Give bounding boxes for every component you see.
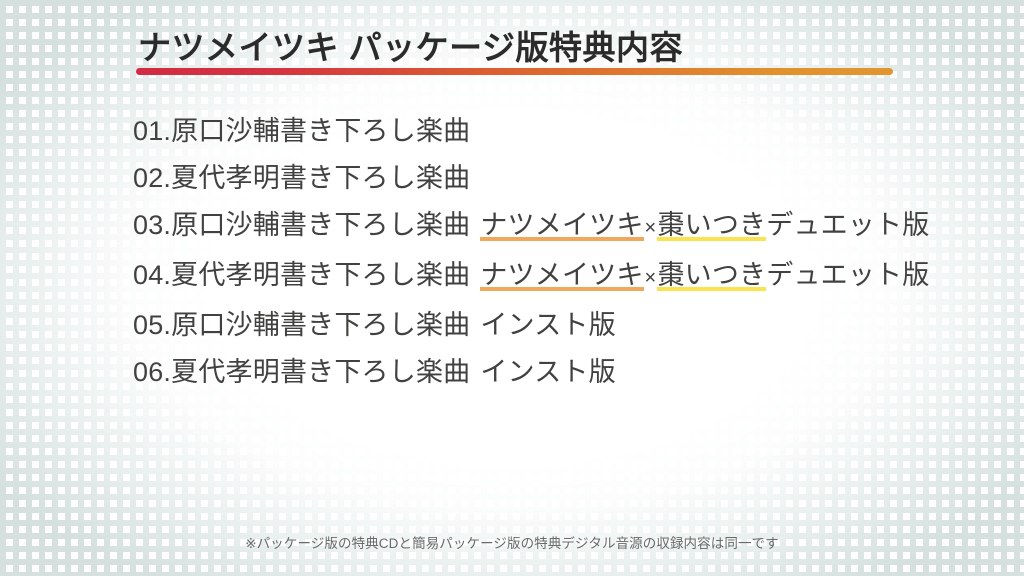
- page-title: ナツメイツキ パッケージ版特典内容: [138, 21, 683, 69]
- variant-text: インスト版: [480, 357, 615, 387]
- track-variant: インスト版: [480, 310, 615, 340]
- track-title: 夏代孝明書き下ろし楽曲: [171, 163, 470, 193]
- track-item: 01.原口沙輔書き下ろし楽曲: [133, 108, 933, 155]
- variant-text: デュエット版: [766, 210, 929, 240]
- track-item: 06.夏代孝明書き下ろし楽曲インスト版: [133, 349, 933, 396]
- track-title: 夏代孝明書き下ろし楽曲: [171, 357, 470, 387]
- track-title: 原口沙輔書き下ろし楽曲: [171, 310, 470, 340]
- track-item: 05.原口沙輔書き下ろし楽曲インスト版: [133, 302, 933, 349]
- footnote-text: ※パッケージ版の特典CDと簡易パッケージ版の特典デジタル音源の収録内容は同一です: [0, 532, 1024, 552]
- highlight-orange: ナツメイツキ: [480, 210, 643, 241]
- variant-text: インスト版: [480, 310, 615, 340]
- variant-text: デュエット版: [766, 260, 929, 290]
- track-item: 02.夏代孝明書き下ろし楽曲: [133, 155, 933, 202]
- track-number: 04.: [133, 260, 171, 290]
- track-number: 02.: [133, 163, 171, 193]
- track-title: 夏代孝明書き下ろし楽曲: [171, 260, 470, 290]
- track-number: 05.: [133, 310, 171, 340]
- slide-canvas: ナツメイツキ パッケージ版特典内容 01.原口沙輔書き下ろし楽曲02.夏代孝明書…: [0, 0, 1024, 576]
- track-list: 01.原口沙輔書き下ろし楽曲02.夏代孝明書き下ろし楽曲03.原口沙輔書き下ろし…: [133, 108, 933, 396]
- track-number: 01.: [133, 116, 171, 146]
- track-item: 03.原口沙輔書き下ろし楽曲ナツメイツキ×棗いつきデュエット版: [133, 202, 933, 252]
- track-title: 原口沙輔書き下ろし楽曲: [171, 116, 470, 146]
- slide-content: ナツメイツキ パッケージ版特典内容 01.原口沙輔書き下ろし楽曲02.夏代孝明書…: [0, 0, 1024, 576]
- track-variant: インスト版: [480, 357, 615, 387]
- track-title: 原口沙輔書き下ろし楽曲: [171, 210, 470, 240]
- title-underline-rule: [136, 68, 893, 75]
- highlight-yellow: 棗いつき: [657, 260, 766, 291]
- cross-separator: ×: [644, 217, 658, 239]
- track-number: 03.: [133, 210, 171, 240]
- cross-separator: ×: [644, 267, 658, 289]
- track-item: 04.夏代孝明書き下ろし楽曲ナツメイツキ×棗いつきデュエット版: [133, 252, 933, 302]
- highlight-orange: ナツメイツキ: [480, 260, 643, 291]
- track-variant: ナツメイツキ×棗いつきデュエット版: [480, 260, 929, 290]
- track-variant: ナツメイツキ×棗いつきデュエット版: [480, 210, 929, 240]
- highlight-yellow: 棗いつき: [657, 210, 766, 241]
- track-number: 06.: [133, 357, 171, 387]
